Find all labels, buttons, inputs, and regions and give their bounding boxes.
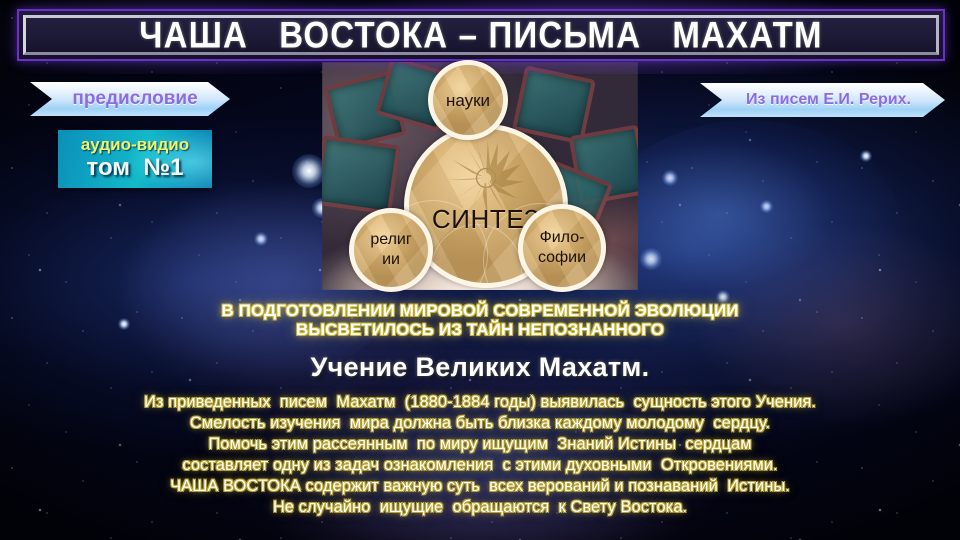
philosophy-circle[interactable]: Фило- софии [518,204,606,292]
subtitle: Учение Великих Махатм. [0,352,960,383]
headline-line-1: В ПОДГОТОВЛЕНИИ МИРОВОЙ СОВРЕМЕННОЙ ЭВОЛ… [0,301,960,321]
source-ribbon[interactable]: Из писем Е.И. Рерих. [700,83,945,117]
philosophy-label: Фило- софии [538,228,586,268]
religion-label: религ ии [370,230,411,270]
volume-format-label: аудио-видио [81,136,189,154]
body-line: ЧАША ВОСТОКА содержит важную суть всех в… [0,476,960,497]
volume-number-label: том №1 [87,155,184,181]
preface-ribbon-label: предисловие [62,88,197,110]
body-text-block: Из приведенных писем Махатм (1880-1884 г… [0,392,960,518]
title-inner-bevel: ЧАША ВОСТОКА – ПИСЬМА МАХАТМ [23,15,939,55]
body-line: Не случайно ищущие обращаются к Свету Во… [0,497,960,518]
page-title: ЧАША ВОСТОКА – ПИСЬМА МАХАТМ [139,14,822,57]
science-circle[interactable]: науки [428,60,508,140]
body-line: Помочь этим рассеянным по миру ищущим Зн… [0,434,960,455]
body-line: Из приведенных писем Махатм (1880-1884 г… [0,392,960,413]
preface-ribbon[interactable]: предисловие [30,82,230,116]
headline-line-2: ВЫСВЕТИЛОСЬ ИЗ ТАЙН НЕПОЗНАННОГО [0,320,960,340]
source-ribbon-label: Из писем Е.И. Рерих. [734,91,911,109]
religion-circle[interactable]: религ ии [349,208,433,292]
science-label: науки [446,92,490,109]
title-frame: ЧАША ВОСТОКА – ПИСЬМА МАХАТМ [17,9,945,61]
slide-root: СИНТЕЗ науки религ ии Фило- софии ЧАША В… [0,0,960,540]
body-line: Смелость изучения мира должна быть близк… [0,413,960,434]
body-line: составляет одну из задач ознакомления с … [0,455,960,476]
volume-box[interactable]: аудио-видио том №1 [58,130,212,188]
